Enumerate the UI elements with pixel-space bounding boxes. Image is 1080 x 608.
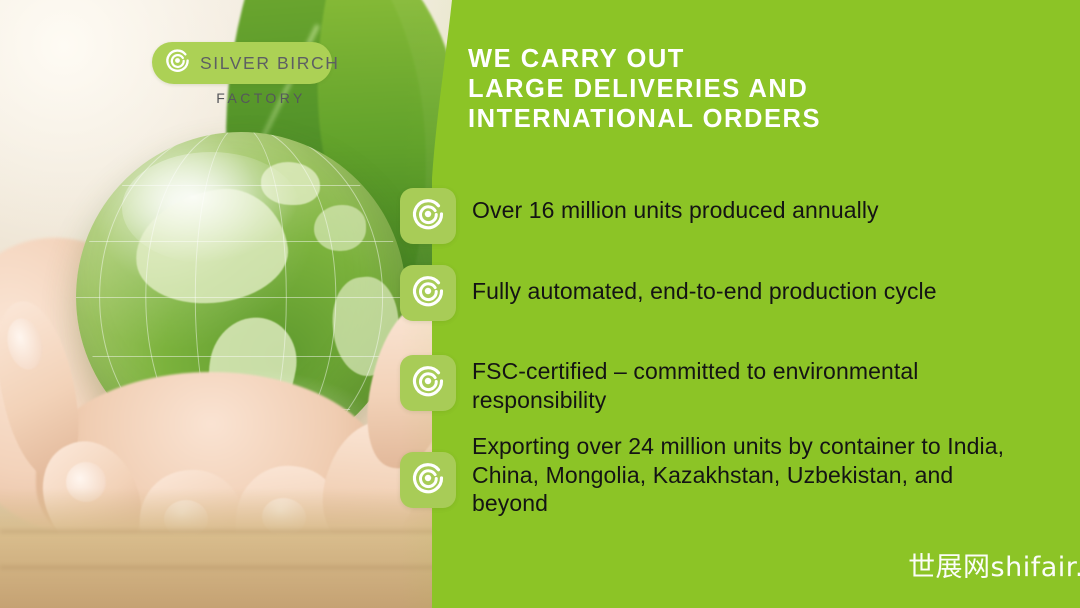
bullet-icon-tile [400, 452, 456, 508]
bullet-icon-tile [400, 265, 456, 321]
slide-canvas: SILVER BIRCH FACTORY WE CARRY OUT LARGE … [0, 0, 1080, 608]
bullet-text: Over 16 million units produced annually [472, 196, 1032, 225]
bullet-icon-tile [400, 188, 456, 244]
bullet-icon-tile [400, 355, 456, 411]
bullet-text: Exporting over 24 million units by conta… [472, 432, 1024, 518]
watermark: 世展网shifair. [908, 545, 1080, 584]
spiral-mark-icon [410, 363, 446, 404]
bullet-text: Fully automated, end-to-end production c… [472, 277, 1032, 306]
bullet-text: FSC-certified – committed to environment… [472, 357, 1002, 414]
spiral-mark-icon [410, 460, 446, 501]
spiral-mark-icon [410, 196, 446, 237]
spiral-mark-icon [410, 273, 446, 314]
bullet-list: Over 16 million units produced annually … [0, 0, 1080, 608]
